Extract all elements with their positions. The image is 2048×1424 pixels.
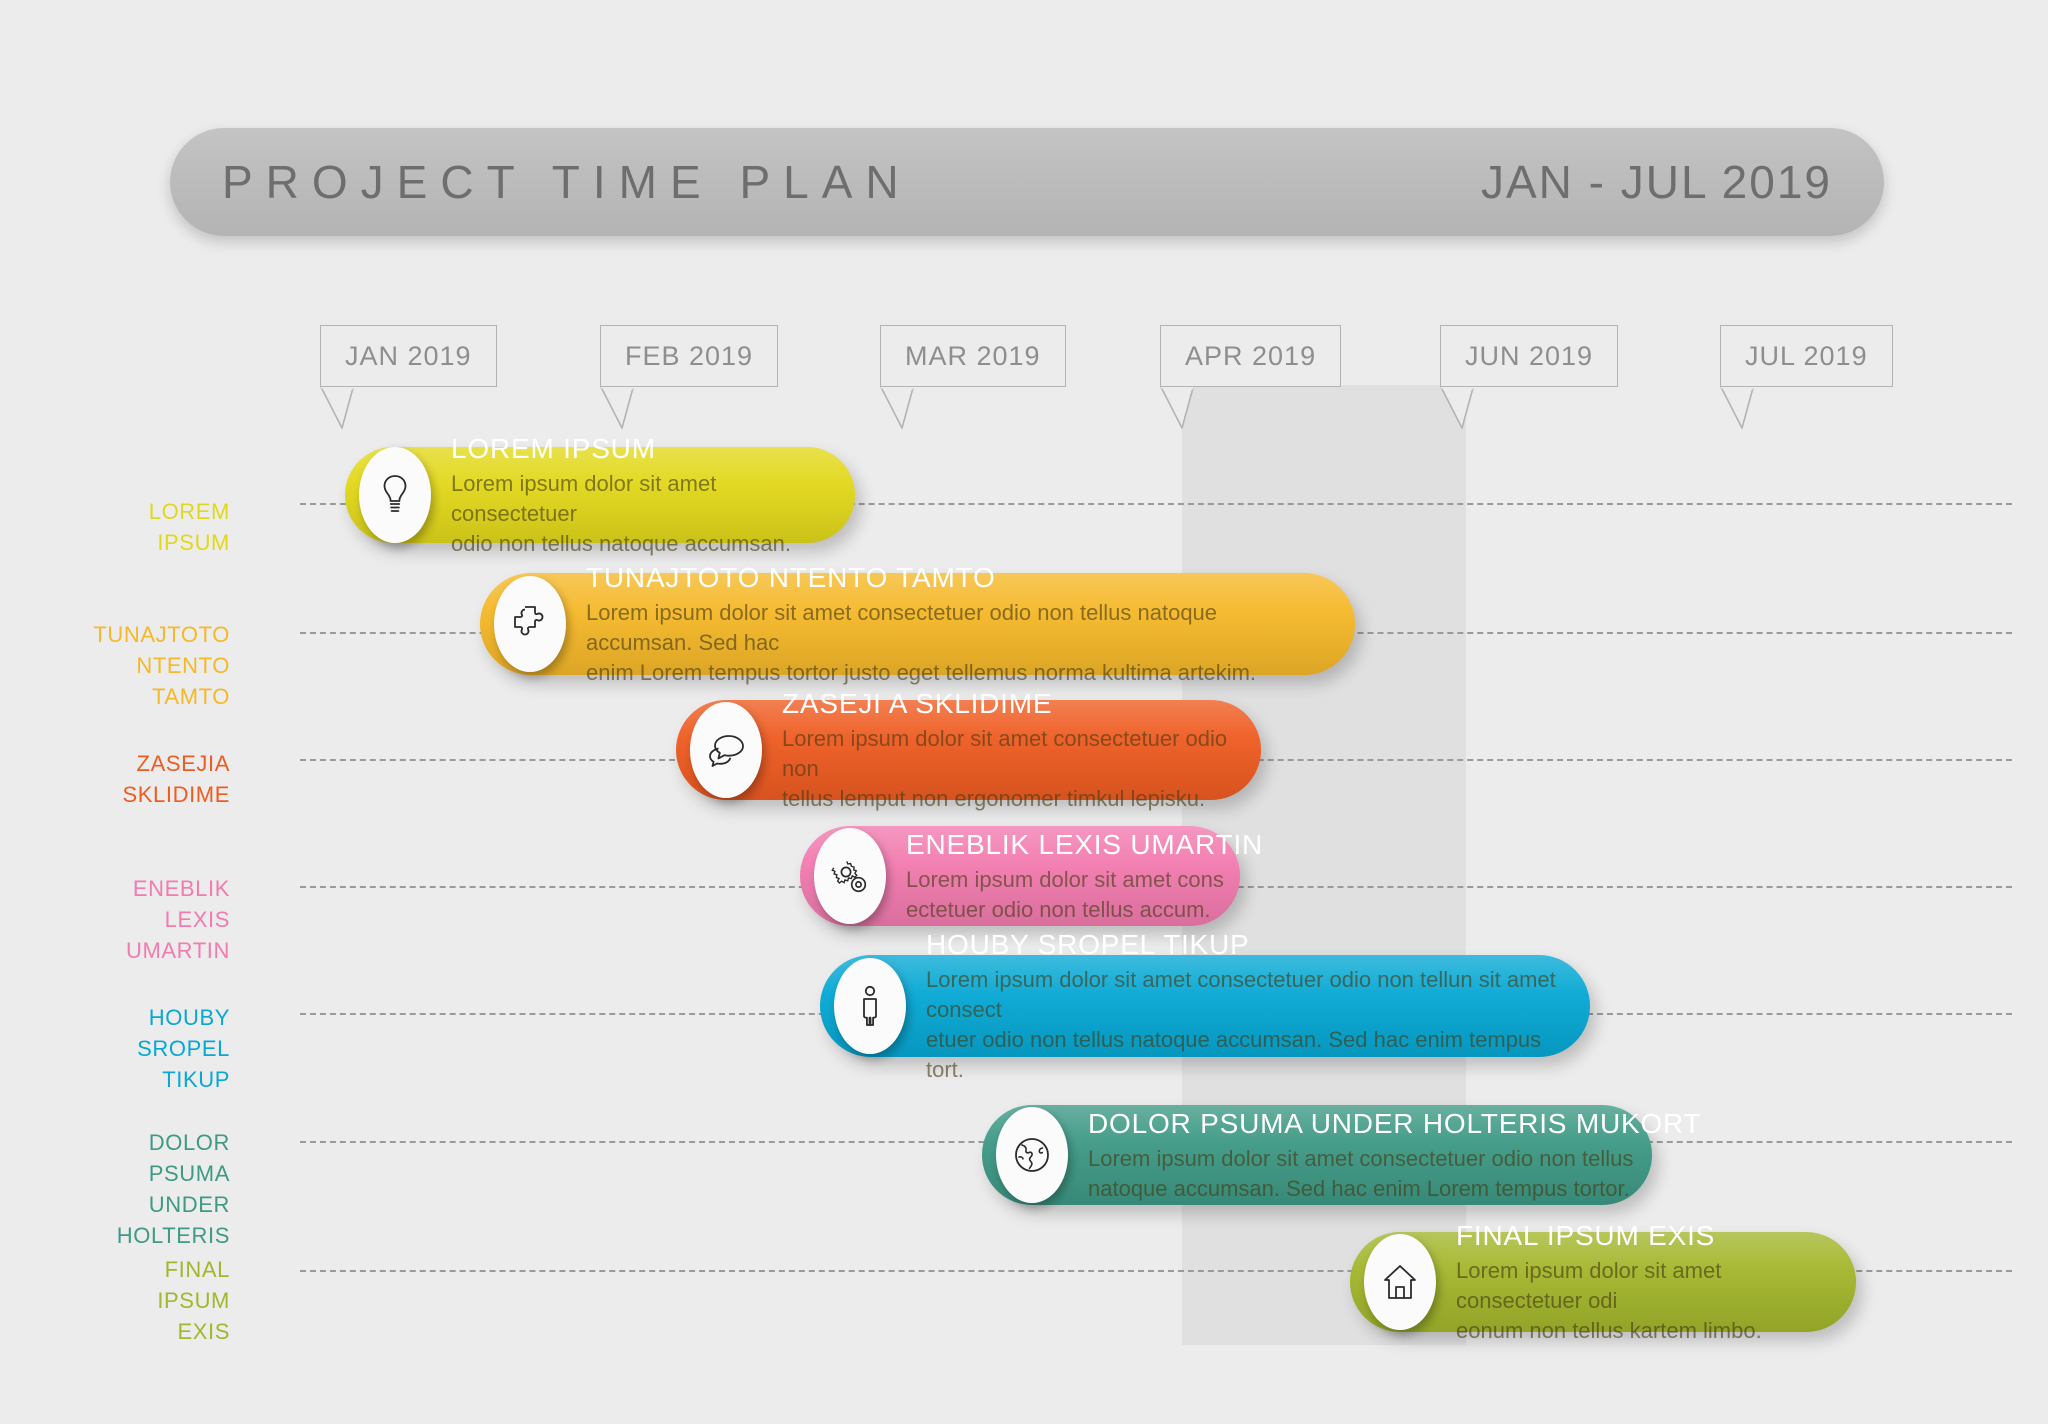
month-label: FEB 2019 (600, 325, 778, 387)
task-text-block: FINAL IPSUM EXISLorem ipsum dolor sit am… (1456, 1219, 1856, 1346)
task-bar-4[interactable]: ENEBLIK LEXIS UMARTINLorem ipsum dolor s… (800, 826, 1240, 926)
month-tag-jun: JUN 2019 (1440, 325, 1618, 387)
task-title: TUNAJTOTO NTENTO TAMTO (586, 561, 1329, 595)
month-label: JUN 2019 (1440, 325, 1618, 387)
row-label-7: FINAL IPSUM EXIS (30, 1254, 230, 1347)
task-text-block: LOREM IPSUMLorem ipsum dolor sit amet co… (451, 432, 855, 559)
task-bar-5[interactable]: HOUBY SROPEL TIKUPLorem ipsum dolor sit … (820, 955, 1590, 1057)
row-label-5: HOUBY SROPEL TIKUP (30, 1002, 230, 1095)
header-date-range: JAN - JUL 2019 (1481, 155, 1832, 209)
month-pointer-icon (320, 387, 380, 429)
task-description: Lorem ipsum dolor sit amet consectetuer … (1456, 1256, 1830, 1346)
task-bar-6[interactable]: DOLOR PSUMA UNDER HOLTERIS MUKORTLorem i… (982, 1105, 1652, 1205)
person-icon (834, 958, 906, 1054)
month-label: JUL 2019 (1720, 325, 1893, 387)
task-bar-3[interactable]: ZASEJI A SKLIDIMELorem ipsum dolor sit a… (676, 700, 1261, 800)
row-label-4: ENEBLIK LEXIS UMARTIN (30, 873, 230, 966)
task-description: Lorem ipsum dolor sit amet consectetuer … (586, 598, 1329, 688)
gears-icon (814, 828, 886, 924)
month-label: APR 2019 (1160, 325, 1341, 387)
infographic-canvas: PROJECT TIME PLAN JAN - JUL 2019 JAN 201… (0, 0, 2048, 1424)
task-title: ZASEJI A SKLIDIME (782, 687, 1235, 721)
row-label-6: DOLOR PSUMA UNDER HOLTERIS (30, 1127, 230, 1251)
task-description: Lorem ipsum dolor sit amet consectetuer … (451, 469, 829, 559)
task-bar-2[interactable]: TUNAJTOTO NTENTO TAMTOLorem ipsum dolor … (480, 573, 1355, 675)
page-title: PROJECT TIME PLAN (222, 155, 912, 209)
house-icon (1364, 1234, 1436, 1330)
task-text-block: DOLOR PSUMA UNDER HOLTERIS MUKORTLorem i… (1088, 1107, 1727, 1204)
month-pointer-icon (1720, 387, 1780, 429)
task-description: Lorem ipsum dolor sit amet consectetuer … (926, 965, 1564, 1085)
month-tag-jan: JAN 2019 (320, 325, 497, 387)
task-bar-1[interactable]: LOREM IPSUMLorem ipsum dolor sit amet co… (345, 447, 855, 543)
month-label: JAN 2019 (320, 325, 497, 387)
lightbulb-icon (359, 447, 431, 543)
month-pointer-icon (1440, 387, 1500, 429)
month-tag-mar: MAR 2019 (880, 325, 1066, 387)
task-title: HOUBY SROPEL TIKUP (926, 928, 1564, 962)
task-bar-7[interactable]: FINAL IPSUM EXISLorem ipsum dolor sit am… (1350, 1232, 1856, 1332)
task-description: Lorem ipsum dolor sit amet consectetuer … (1088, 1144, 1701, 1204)
month-pointer-icon (880, 387, 940, 429)
globe-icon (996, 1107, 1068, 1203)
task-text-block: HOUBY SROPEL TIKUPLorem ipsum dolor sit … (926, 928, 1590, 1085)
task-description: Lorem ipsum dolor sit amet consectetuer … (782, 724, 1235, 814)
task-text-block: ZASEJI A SKLIDIMELorem ipsum dolor sit a… (782, 687, 1261, 814)
task-title: ENEBLIK LEXIS UMARTIN (906, 828, 1263, 862)
task-title: FINAL IPSUM EXIS (1456, 1219, 1830, 1253)
month-label: MAR 2019 (880, 325, 1066, 387)
month-pointer-icon (1160, 387, 1220, 429)
header-bar: PROJECT TIME PLAN JAN - JUL 2019 (170, 128, 1884, 236)
task-title: DOLOR PSUMA UNDER HOLTERIS MUKORT (1088, 1107, 1701, 1141)
row-label-2: TUNAJTOTO NTENTO TAMTO (30, 619, 230, 712)
month-pointer-icon (600, 387, 660, 429)
month-tag-feb: FEB 2019 (600, 325, 778, 387)
puzzle-icon (494, 576, 566, 672)
month-tag-apr: APR 2019 (1160, 325, 1341, 387)
month-tag-jul: JUL 2019 (1720, 325, 1893, 387)
task-title: LOREM IPSUM (451, 432, 829, 466)
row-label-3: ZASEJIA SKLIDIME (30, 748, 230, 810)
row-label-1: LOREM IPSUM (30, 496, 230, 558)
task-description: Lorem ipsum dolor sit amet cons ectetuer… (906, 865, 1263, 925)
task-text-block: TUNAJTOTO NTENTO TAMTOLorem ipsum dolor … (586, 561, 1355, 688)
chat-icon (690, 702, 762, 798)
task-text-block: ENEBLIK LEXIS UMARTINLorem ipsum dolor s… (906, 828, 1289, 925)
